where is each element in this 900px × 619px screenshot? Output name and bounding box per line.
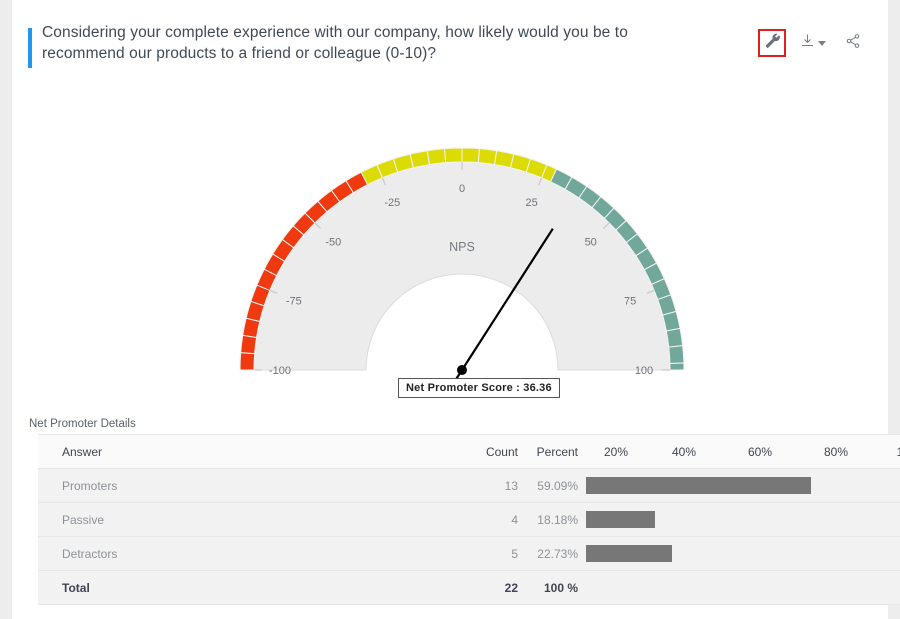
axis-tick-40: 40% — [646, 435, 722, 469]
axis-tick-100: 100% — [874, 435, 900, 469]
gauge-tick-label: 25 — [526, 197, 538, 209]
cell-total-percent: 100 % — [524, 571, 586, 605]
download-menu[interactable] — [800, 33, 826, 53]
gauge-band-segment — [445, 148, 462, 163]
gauge-tick-label: 0 — [459, 183, 465, 195]
gauge-band-segment — [427, 149, 445, 165]
wrench-icon — [764, 32, 781, 54]
table-header: Answer Count Percent 20% 40% 60% 80% 100… — [38, 435, 900, 469]
share-button[interactable] — [840, 30, 866, 56]
gauge-tick-label: -75 — [286, 295, 302, 307]
column-header-count: Count — [458, 435, 524, 469]
axis-tick-60: 60% — [722, 435, 798, 469]
gauge-center-label: NPS — [449, 240, 475, 254]
accent-bar — [28, 28, 32, 68]
percent-bar — [586, 511, 655, 528]
settings-button[interactable] — [758, 29, 786, 57]
gauge-tick-label: -25 — [384, 197, 400, 209]
gauge-track — [240, 148, 684, 370]
net-promoter-details-table: Answer Count Percent 20% 40% 60% 80% 100… — [38, 434, 900, 605]
cell-percent: 18.18% — [524, 503, 586, 537]
percent-bar — [586, 545, 672, 562]
cell-answer: Promoters — [38, 469, 458, 503]
nps-gauge: -100-75-50-250255075100 NPS Net Promoter… — [12, 96, 888, 416]
nps-score-tooltip: Net Promoter Score : 36.36 — [398, 378, 560, 398]
cell-bar — [586, 537, 900, 571]
gauge-tick-label: 50 — [585, 236, 597, 248]
column-header-percent: Percent — [524, 435, 586, 469]
cell-count: 4 — [458, 503, 524, 537]
gauge-band-segment — [410, 151, 429, 168]
cell-bar — [586, 469, 900, 503]
chart-toolbar — [758, 28, 866, 58]
cell-count: 5 — [458, 537, 524, 571]
table-row: Detractors522.73% — [38, 537, 900, 571]
cell-percent: 59.09% — [524, 469, 586, 503]
percent-bar — [586, 477, 811, 494]
table-header-row: Answer Count Percent 20% 40% 60% 80% 100… — [38, 435, 900, 469]
page-title: Considering your complete experience wit… — [42, 22, 702, 64]
table-body: Promoters1359.09%Passive418.18%Detractor… — [38, 469, 900, 605]
gauge-band-segment — [241, 335, 257, 353]
cell-total-bar — [586, 571, 900, 605]
cell-total-count: 22 — [458, 571, 524, 605]
report-card: Considering your complete experience wit… — [12, 0, 888, 619]
cell-answer: Passive — [38, 503, 458, 537]
table-row: Passive418.18% — [38, 503, 900, 537]
cell-count: 13 — [458, 469, 524, 503]
gauge-band-segment — [462, 148, 479, 163]
column-header-answer: Answer — [38, 435, 458, 469]
gauge-tick-label: -50 — [325, 236, 341, 248]
gauge-band-segment — [669, 346, 684, 364]
table-row: Promoters1359.09% — [38, 469, 900, 503]
gauge-tick-label: 100 — [635, 365, 653, 377]
share-icon — [845, 33, 861, 54]
cell-bar — [586, 503, 900, 537]
question-header: Considering your complete experience wit… — [12, 22, 888, 78]
gauge-band-segment — [666, 328, 682, 347]
gauge-band-segment — [478, 149, 496, 165]
gauge-band-segment — [670, 363, 684, 370]
gauge-svg: -100-75-50-250255075100 NPS — [12, 96, 888, 416]
cell-answer: Detractors — [38, 537, 458, 571]
cell-total-label: Total — [38, 571, 458, 605]
gauge-tick-label: 75 — [624, 295, 636, 307]
axis-tick-80: 80% — [798, 435, 874, 469]
details-section-title: Net Promoter Details — [29, 418, 136, 430]
gauge-tick-label: -100 — [269, 365, 291, 377]
cell-percent: 22.73% — [524, 537, 586, 571]
download-icon — [800, 33, 815, 53]
gauge-band-segment — [240, 353, 255, 370]
chevron-down-icon — [818, 41, 826, 46]
table-total-row: Total22100 % — [38, 571, 900, 605]
axis-tick-20: 20% — [586, 435, 646, 469]
